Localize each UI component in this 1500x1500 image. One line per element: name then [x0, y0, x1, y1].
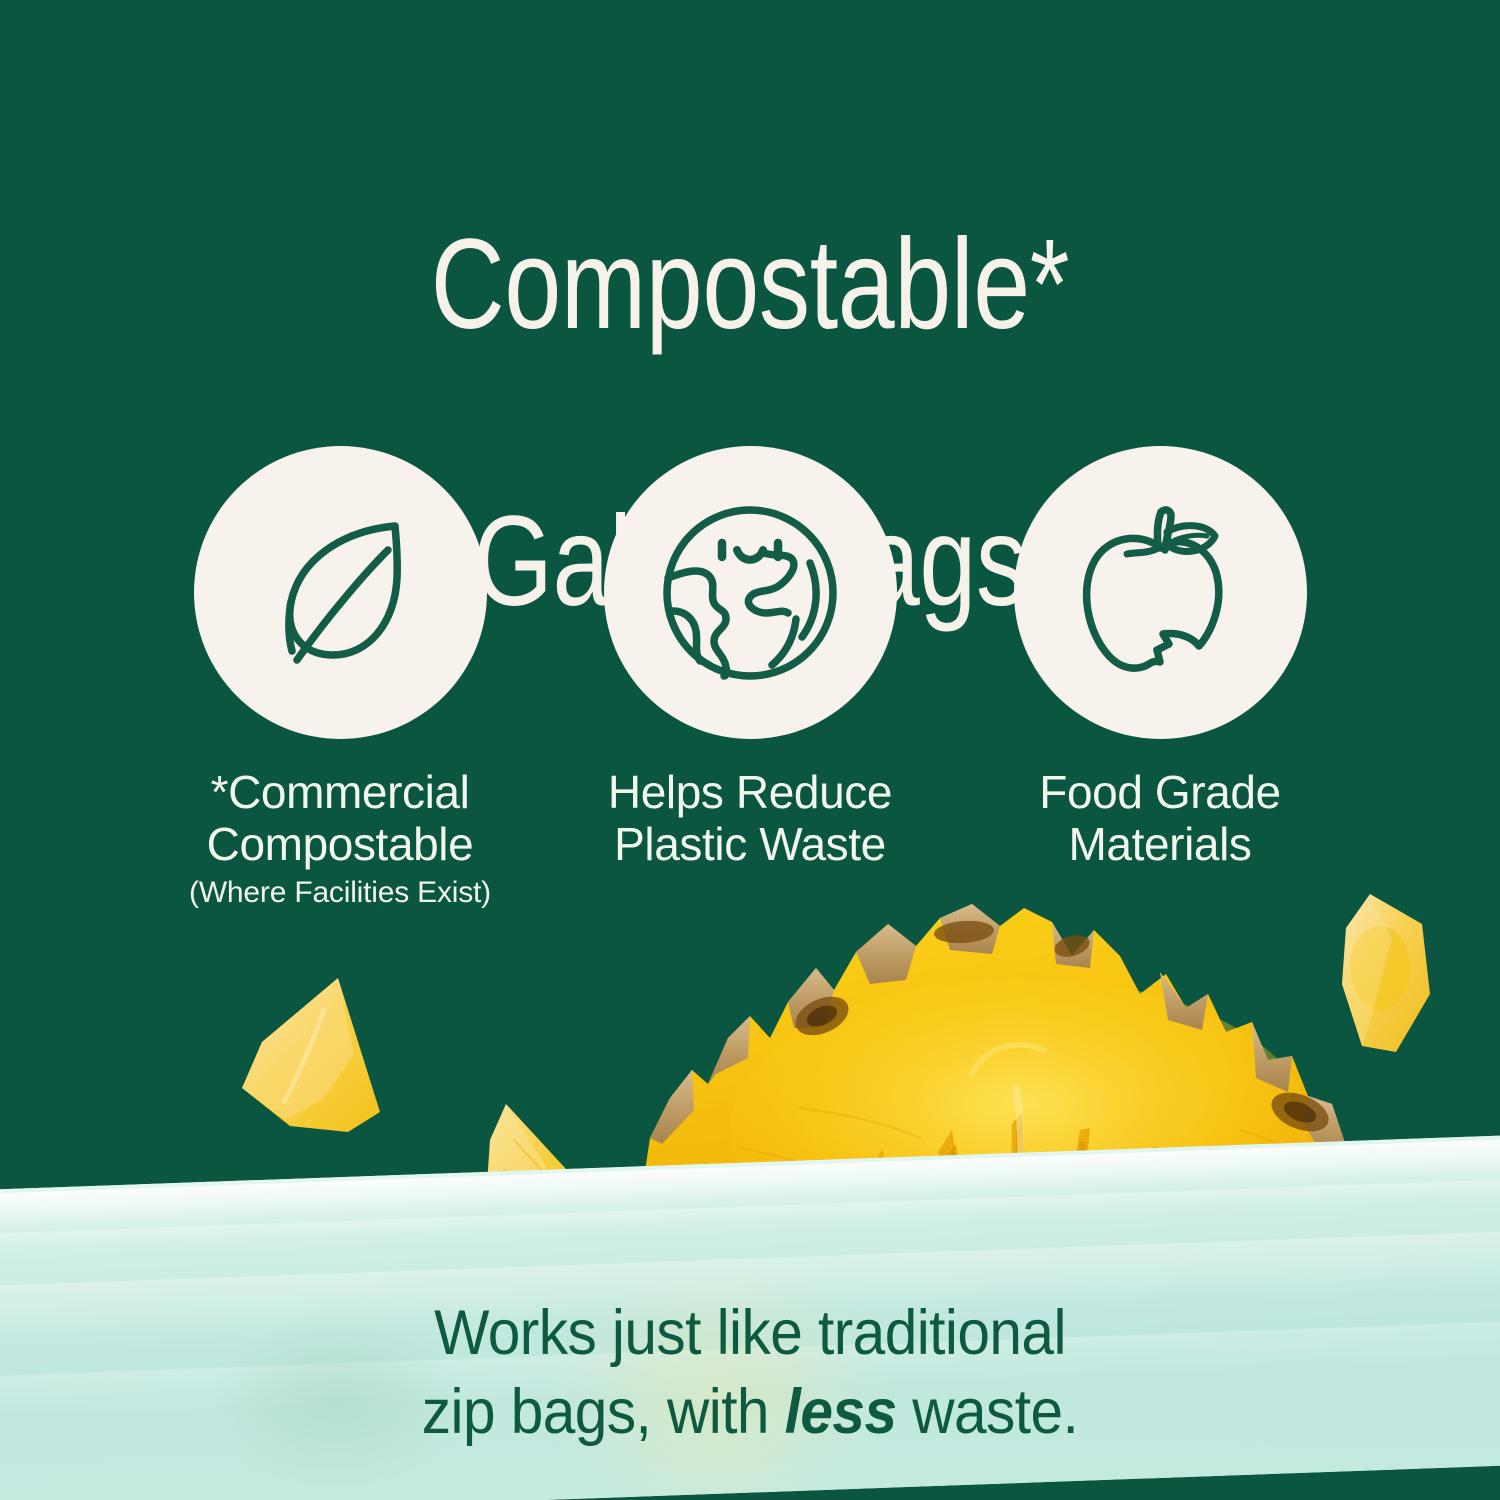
- leaf-icon-circle: [194, 446, 487, 739]
- benefit-commercial-compostable: *Commercial Compostable (Where Facilitie…: [194, 446, 487, 911]
- tagline-line-1: Works just like traditional: [53, 1294, 1448, 1373]
- benefit-food-grade-materials: Food Grade Materials: [1014, 446, 1307, 911]
- benefit-reduce-plastic-waste: Helps Reduce Plastic Waste: [604, 446, 897, 911]
- apple-icon-circle: [1014, 446, 1307, 739]
- product-marketing-image: Compostable* Gallon Bags *Commercial Com…: [0, 0, 1500, 1500]
- leaf-icon: [245, 498, 435, 688]
- pineapple-chunk-polygon: [1330, 888, 1470, 1068]
- tagline-emphasis: less: [785, 1377, 897, 1447]
- globe-icon-circle: [604, 446, 897, 739]
- globe-smiling-icon: [652, 495, 848, 691]
- benefits-row: *Commercial Compostable (Where Facilitie…: [0, 446, 1500, 911]
- tagline-line-2: zip bags, with less waste.: [53, 1373, 1448, 1452]
- tagline-line-2-after: waste.: [896, 1377, 1078, 1447]
- benefit-label: Helps Reduce Plastic Waste: [585, 767, 915, 870]
- benefit-label: *Commercial Compostable: [175, 767, 505, 870]
- apple-bitten-icon: [1065, 498, 1255, 688]
- headline-line-1: Compostable*: [150, 216, 1350, 354]
- tagline: Works just like traditional zip bags, wi…: [53, 1294, 1448, 1453]
- pineapple-chunk-triangle: [228, 970, 408, 1170]
- tagline-line-2-before: zip bags, with: [422, 1377, 785, 1447]
- benefit-label: Food Grade Materials: [995, 767, 1325, 870]
